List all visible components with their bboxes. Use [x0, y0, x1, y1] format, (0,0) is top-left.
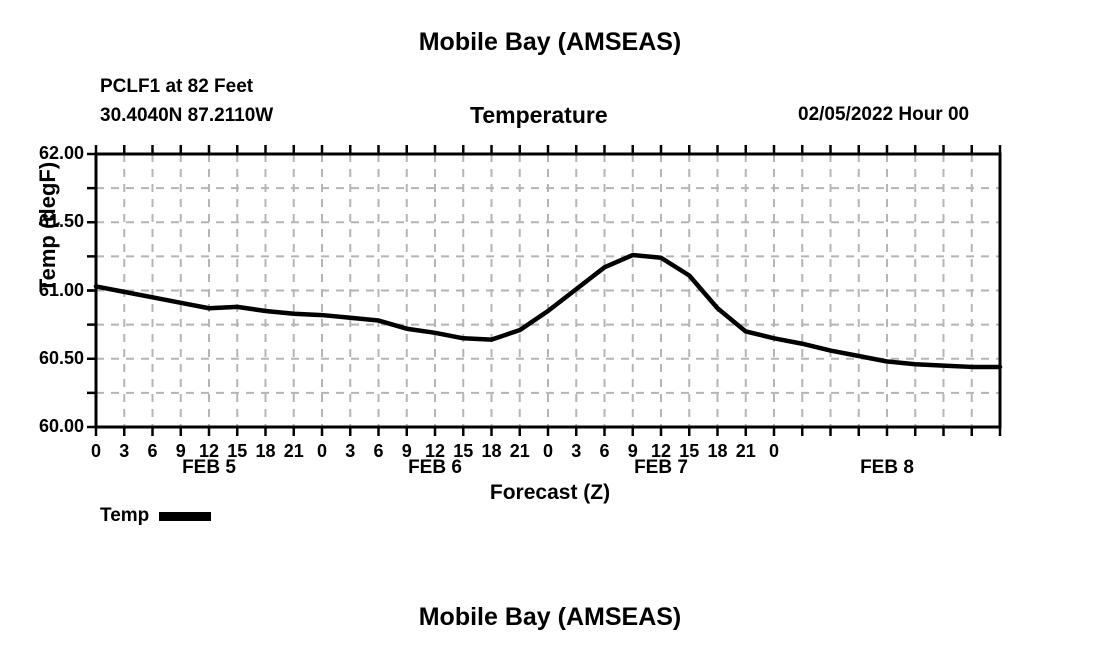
- y-tick-label: 62.00: [12, 143, 84, 164]
- legend-label-temp: Temp: [100, 505, 149, 527]
- y-tick-label: 60.50: [12, 348, 84, 369]
- grid-lines: [96, 154, 1000, 427]
- day-label: FEB 6: [375, 457, 495, 479]
- y-tick-label: 61.50: [12, 211, 84, 232]
- temperature-line-chart: [0, 0, 1100, 650]
- y-tick-label: 61.00: [12, 280, 84, 301]
- day-label: FEB 5: [149, 457, 269, 479]
- day-label: FEB 8: [827, 457, 947, 479]
- legend: Temp: [100, 505, 211, 527]
- legend-swatch-temp: [159, 512, 211, 521]
- x-tick-label: 0: [754, 441, 794, 462]
- y-tick-label: 60.00: [12, 416, 84, 437]
- footer-title: Mobile Bay (AMSEAS): [0, 603, 1100, 632]
- day-label: FEB 7: [601, 457, 721, 479]
